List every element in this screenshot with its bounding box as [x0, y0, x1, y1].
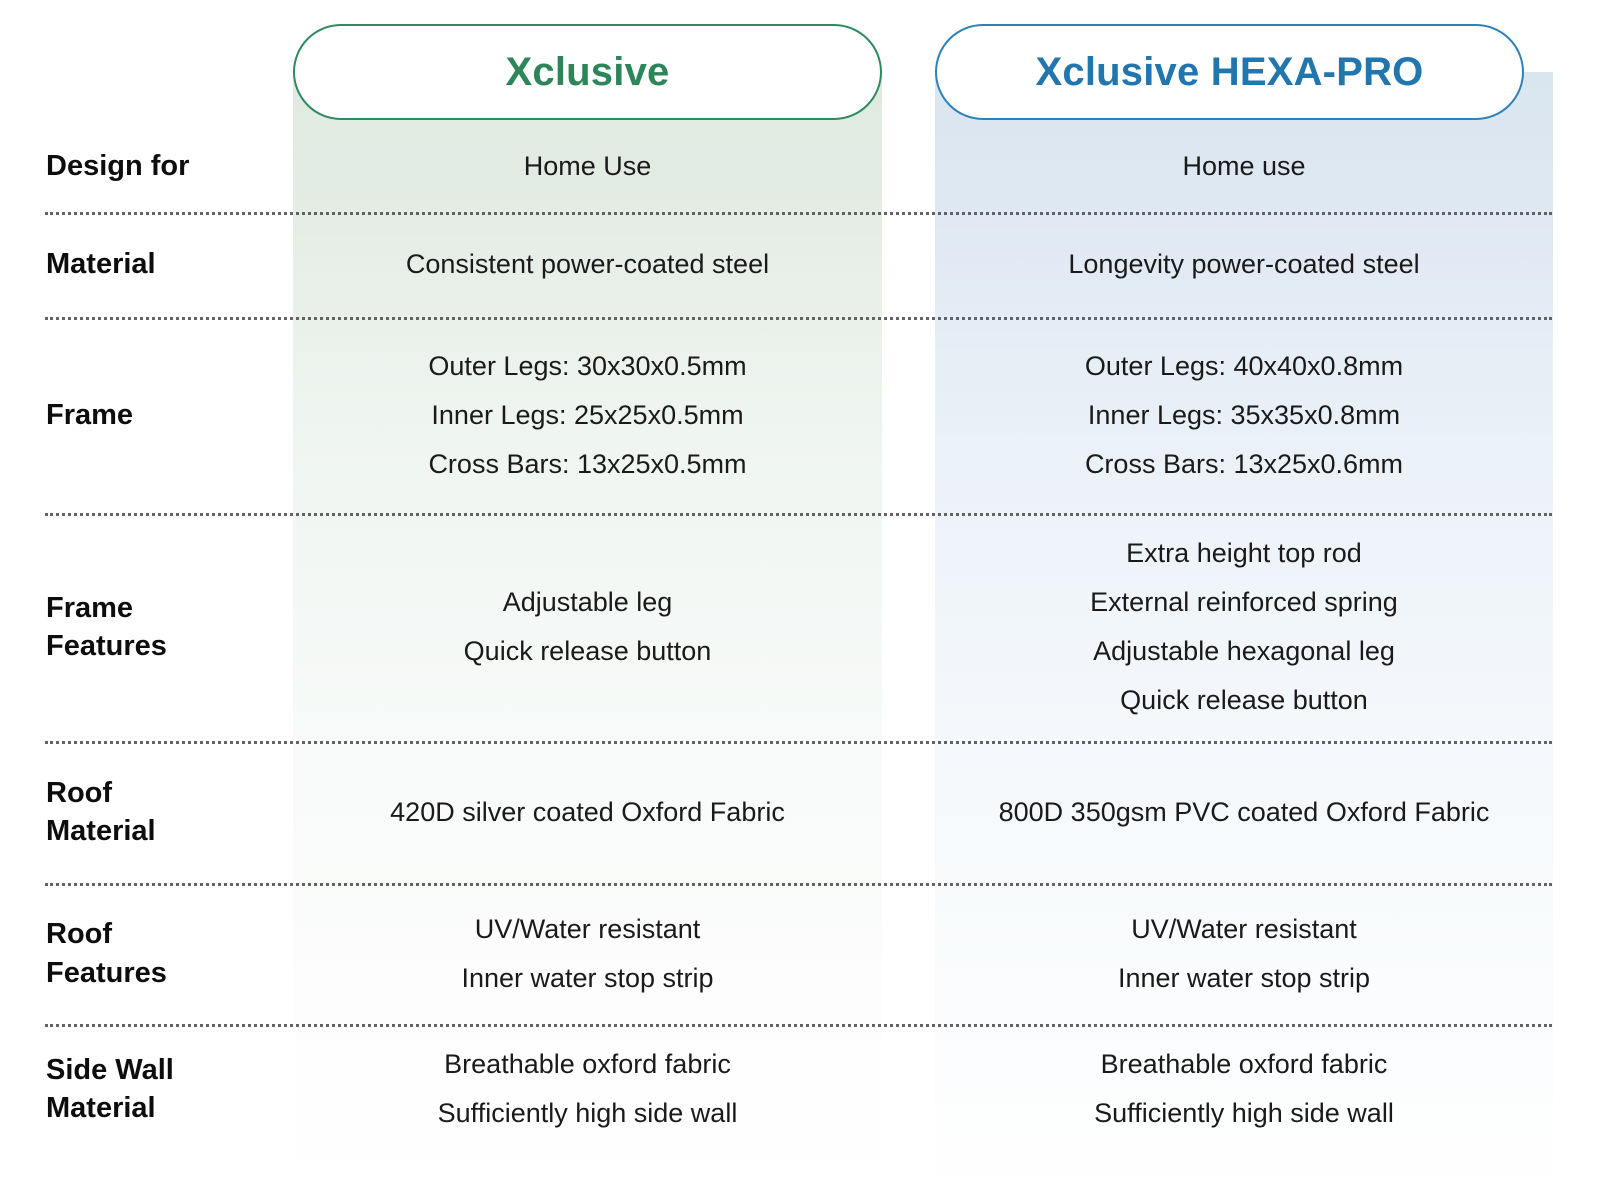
cell-line: Inner Legs: 25x25x0.5mm: [301, 391, 874, 440]
table-row: Material Consistent power-coated steel L…: [0, 212, 1600, 317]
cell-line: Adjustable leg: [301, 578, 874, 627]
cell-line: Breathable oxford fabric: [301, 1040, 874, 1089]
cell-line: Outer Legs: 40x40x0.8mm: [943, 342, 1545, 391]
cell-material-hexa-pro: Longevity power-coated steel: [935, 240, 1553, 289]
cell-design-for-hexa-pro: Home use: [935, 142, 1553, 191]
cell-line: Quick release button: [301, 627, 874, 676]
cell-line: Sufficiently high side wall: [301, 1089, 874, 1138]
row-label-line1: Frame: [46, 592, 133, 624]
cell-line: Outer Legs: 30x30x0.5mm: [301, 342, 874, 391]
spec-comparison-table: Design for Home Use Home use Material Co…: [0, 120, 1600, 1154]
row-label-material: Material: [0, 245, 293, 283]
table-row: Roof Material 420D silver coated Oxford …: [0, 741, 1600, 883]
table-row: Roof Features UV/Water resistant Inner w…: [0, 883, 1600, 1024]
table-row: Frame Outer Legs: 30x30x0.5mm Inner Legs…: [0, 317, 1600, 513]
row-label-line2: Material: [46, 1089, 293, 1127]
row-label-line2: Features: [46, 954, 293, 992]
cell-line: Home use: [943, 142, 1545, 191]
row-label-line1: Side Wall: [46, 1054, 174, 1086]
cell-frame-features-hexa-pro: Extra height top rod External reinforced…: [935, 529, 1553, 725]
comparison-table-page: Xclusive Xclusive HEXA-PRO Design for Ho…: [0, 0, 1600, 1200]
cell-line: Extra height top rod: [943, 529, 1545, 578]
row-label-roof-material: Roof Material: [0, 774, 293, 851]
column-header-xclusive-hexa-pro-label: Xclusive HEXA-PRO: [1036, 50, 1424, 95]
cell-material-xclusive: Consistent power-coated steel: [293, 240, 882, 289]
cell-line: Inner Legs: 35x35x0.8mm: [943, 391, 1545, 440]
cell-roof-features-xclusive: UV/Water resistant Inner water stop stri…: [293, 905, 882, 1003]
table-row: Frame Features Adjustable leg Quick rele…: [0, 513, 1600, 741]
table-row: Side Wall Material Breathable oxford fab…: [0, 1024, 1600, 1154]
cell-line: Consistent power-coated steel: [301, 240, 874, 289]
cell-line: Breathable oxford fabric: [943, 1040, 1545, 1089]
row-label-frame: Frame: [0, 396, 293, 434]
cell-frame-hexa-pro: Outer Legs: 40x40x0.8mm Inner Legs: 35x3…: [935, 342, 1553, 489]
cell-line: Sufficiently high side wall: [943, 1089, 1545, 1138]
row-divider: [45, 883, 1552, 886]
row-label-line1: Material: [46, 248, 156, 280]
cell-roof-features-hexa-pro: UV/Water resistant Inner water stop stri…: [935, 905, 1553, 1003]
cell-side-wall-material-xclusive: Breathable oxford fabric Sufficiently hi…: [293, 1040, 882, 1138]
cell-side-wall-material-hexa-pro: Breathable oxford fabric Sufficiently hi…: [935, 1040, 1553, 1138]
cell-line: Inner water stop strip: [943, 954, 1545, 1003]
cell-line: Inner water stop strip: [301, 954, 874, 1003]
row-label-roof-features: Roof Features: [0, 915, 293, 992]
row-label-line2: Material: [46, 812, 293, 850]
row-label-frame-features: Frame Features: [0, 589, 293, 666]
row-label-line1: Roof: [46, 777, 112, 809]
cell-frame-xclusive: Outer Legs: 30x30x0.5mm Inner Legs: 25x2…: [293, 342, 882, 489]
cell-line: Quick release button: [943, 676, 1545, 725]
cell-roof-material-hexa-pro: 800D 350gsm PVC coated Oxford Fabric: [935, 788, 1553, 837]
cell-line: UV/Water resistant: [943, 905, 1545, 954]
row-divider: [45, 513, 1552, 516]
cell-line: Cross Bars: 13x25x0.6mm: [943, 440, 1545, 489]
cell-line: Cross Bars: 13x25x0.5mm: [301, 440, 874, 489]
row-label-design-for: Design for: [0, 147, 293, 185]
row-label-line2: Features: [46, 627, 293, 665]
cell-roof-material-xclusive: 420D silver coated Oxford Fabric: [293, 788, 882, 837]
cell-line: Longevity power-coated steel: [943, 240, 1545, 289]
row-divider: [45, 212, 1552, 215]
cell-design-for-xclusive: Home Use: [293, 142, 882, 191]
cell-line: Home Use: [301, 142, 874, 191]
cell-line: 800D 350gsm PVC coated Oxford Fabric: [943, 788, 1545, 837]
row-label-side-wall-material: Side Wall Material: [0, 1051, 293, 1128]
column-header-xclusive-hexa-pro[interactable]: Xclusive HEXA-PRO: [935, 24, 1524, 120]
cell-frame-features-xclusive: Adjustable leg Quick release button: [293, 578, 882, 676]
cell-line: Adjustable hexagonal leg: [943, 627, 1545, 676]
row-divider: [45, 1024, 1552, 1027]
table-row: Design for Home Use Home use: [0, 120, 1600, 212]
cell-line: 420D silver coated Oxford Fabric: [301, 788, 874, 837]
column-header-xclusive[interactable]: Xclusive: [293, 24, 882, 120]
row-label-line1: Frame: [46, 399, 133, 431]
cell-line: UV/Water resistant: [301, 905, 874, 954]
row-label-line1: Design for: [46, 150, 189, 182]
column-header-xclusive-label: Xclusive: [506, 50, 670, 95]
row-divider: [45, 741, 1552, 744]
row-label-line1: Roof: [46, 918, 112, 950]
row-divider: [45, 317, 1552, 320]
cell-line: External reinforced spring: [943, 578, 1545, 627]
